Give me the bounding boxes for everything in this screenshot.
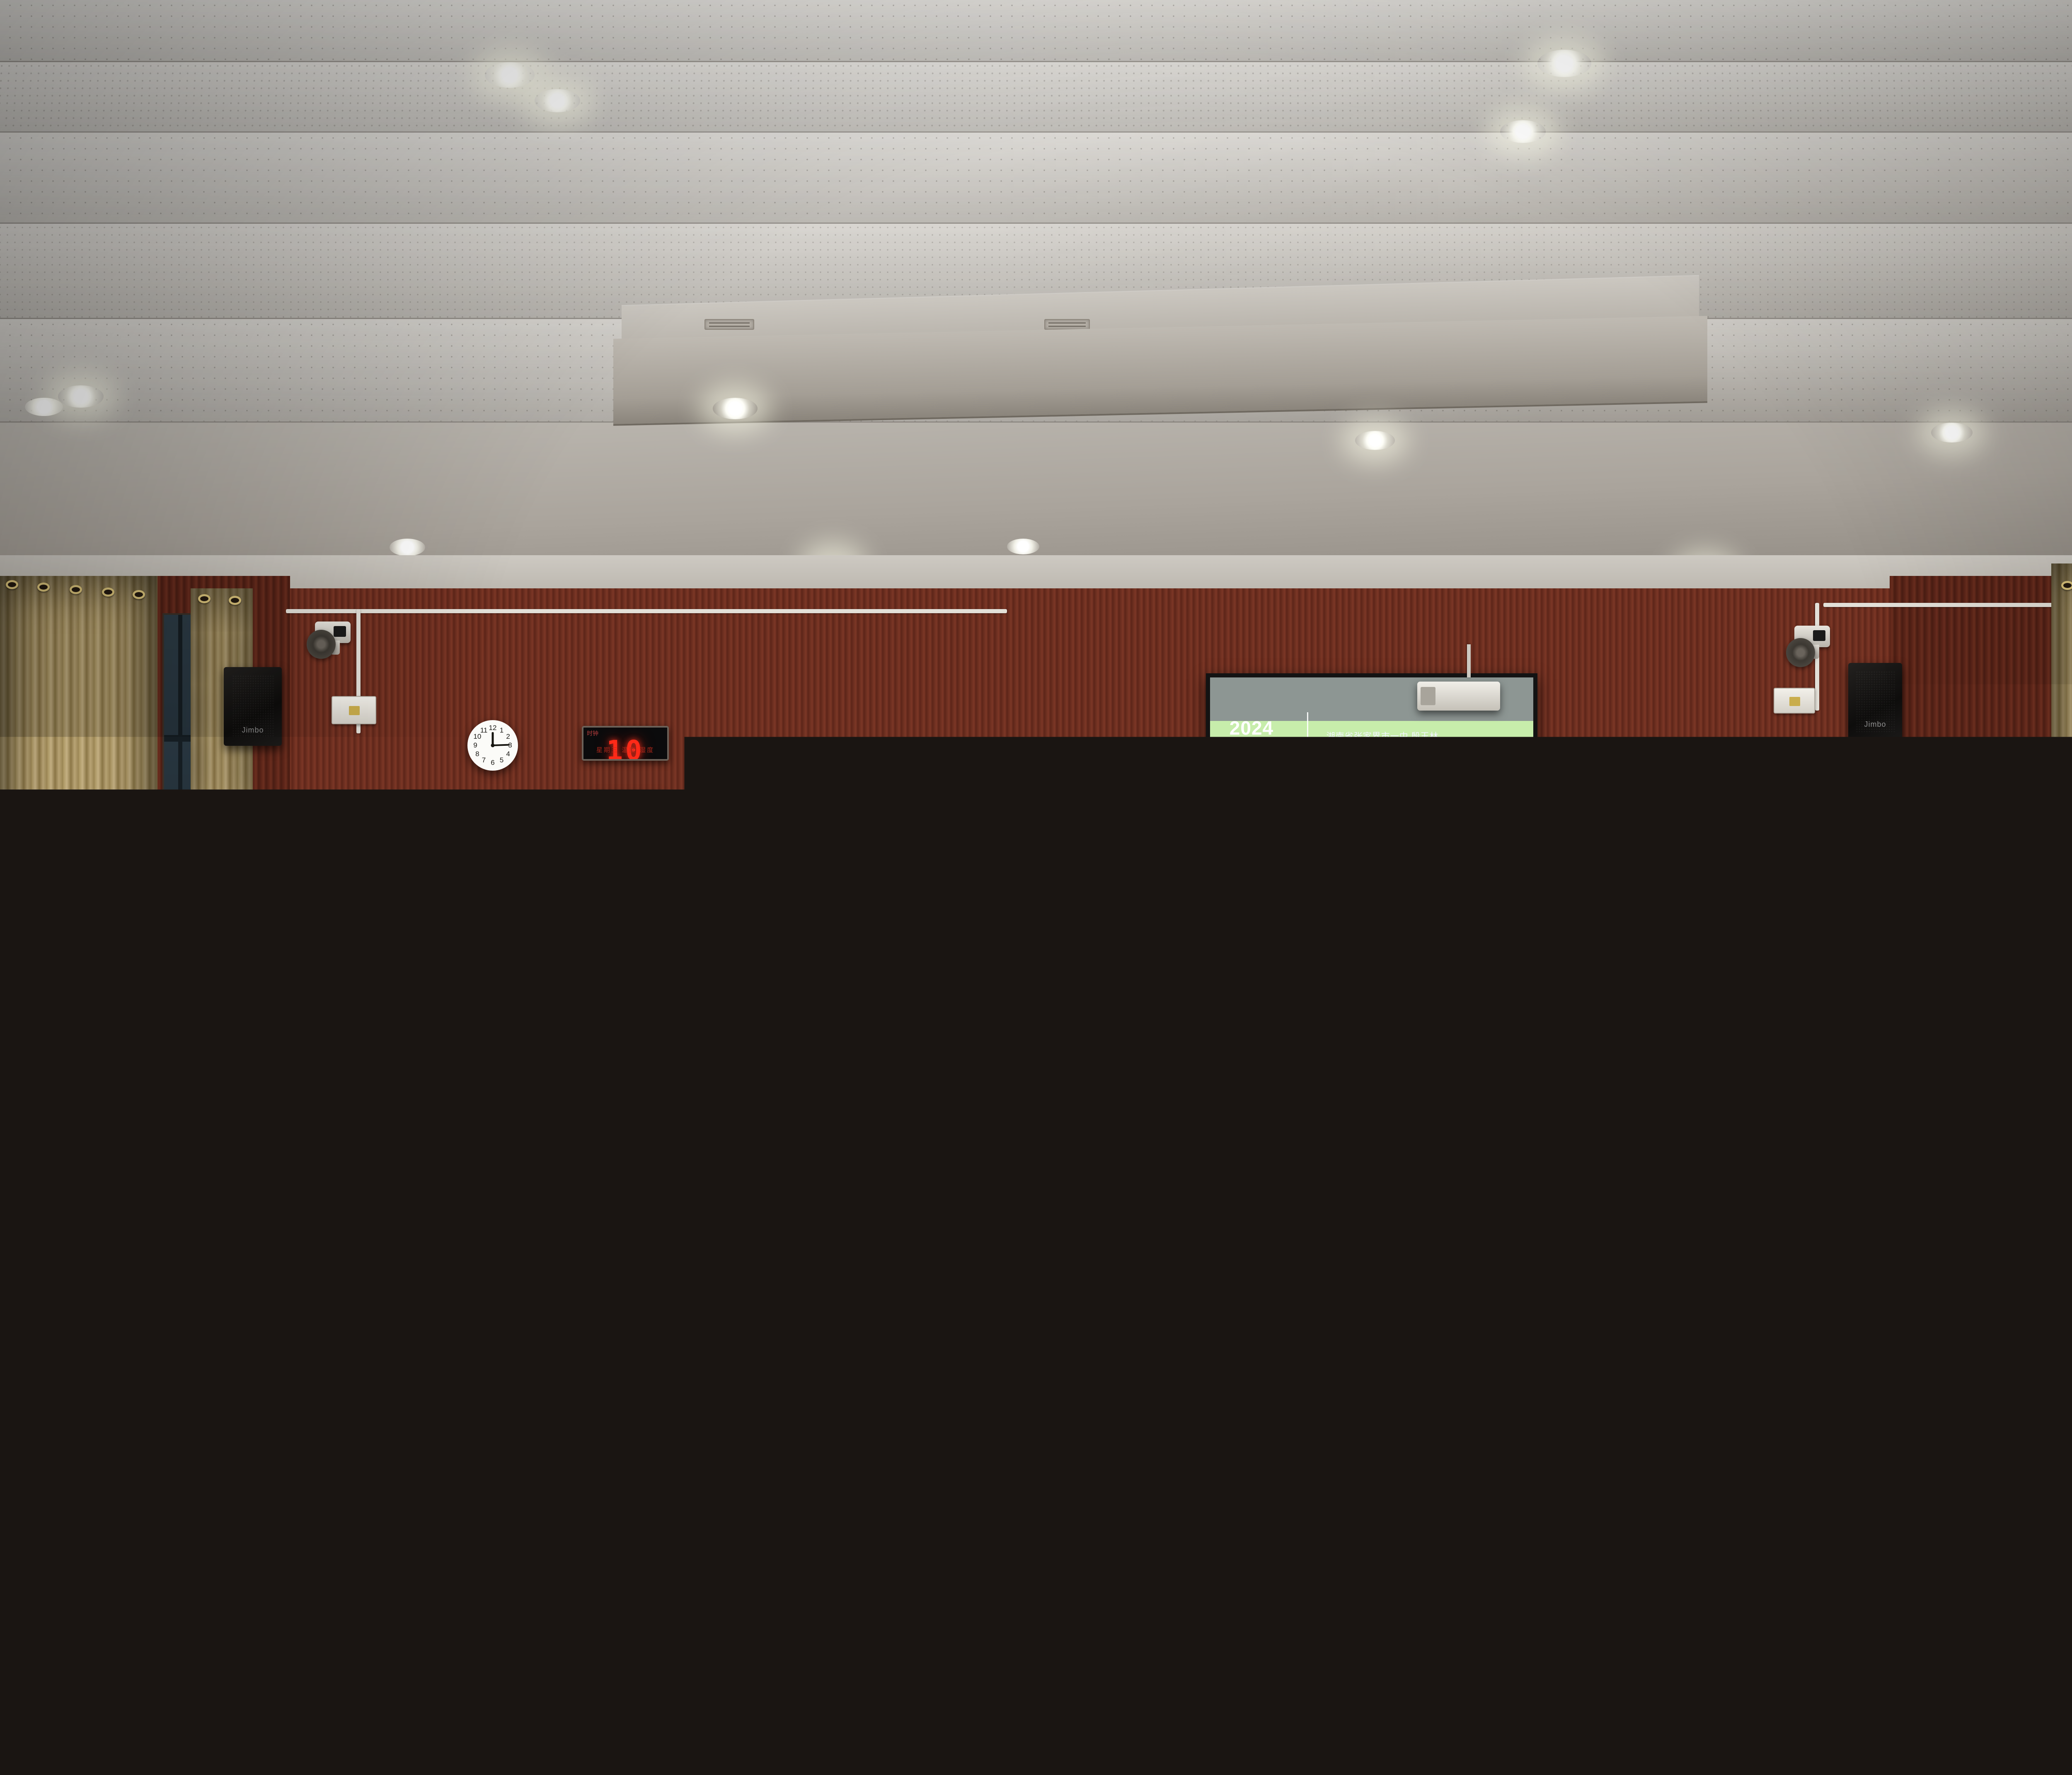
downlight-8 bbox=[1931, 423, 1973, 443]
poster-values-line1: 富强 民主 文明 和谐 bbox=[598, 834, 660, 858]
seat-r2-3[interactable] bbox=[182, 1123, 249, 1181]
downlight-1 bbox=[485, 62, 535, 88]
audience-head-n9 bbox=[1604, 1135, 1657, 1193]
speaker-glasses-icon bbox=[798, 899, 822, 904]
audience-head-n10 bbox=[1832, 1135, 1886, 1194]
ceiling bbox=[0, 0, 2072, 580]
analog-wall-clock: 12 1 2 3 4 5 6 7 8 9 10 11 bbox=[467, 720, 518, 771]
clock-center-pin bbox=[491, 744, 495, 747]
speaker-brand-right: Jimbo bbox=[1848, 720, 1902, 729]
seat-r2-6[interactable] bbox=[1024, 1119, 1089, 1176]
conduit-horizontal-left bbox=[286, 609, 1007, 613]
student-phone-1[interactable] bbox=[686, 1213, 714, 1255]
ceiling-projector bbox=[1417, 682, 1500, 711]
ceiling-panel-row-2 bbox=[0, 62, 2072, 133]
curtain-right bbox=[2051, 563, 2072, 1127]
downlight-2 bbox=[535, 89, 580, 112]
handout-paper-3 bbox=[1607, 1316, 1692, 1371]
lecture-hall-photo: Jimbo Jimbo 12 1 2 3 4 5 6 7 8 9 10 11 时… bbox=[0, 0, 2072, 1775]
water-bottle-4 bbox=[1003, 1066, 1015, 1103]
seat-r2-2[interactable] bbox=[104, 1121, 170, 1179]
host-glasses-icon bbox=[948, 976, 971, 982]
wall-speaker-left: Jimbo bbox=[224, 667, 282, 746]
seat-r2-10[interactable] bbox=[1774, 1116, 1841, 1175]
handout-paper-1 bbox=[475, 1195, 552, 1245]
audience-head-m7 bbox=[1401, 1077, 1445, 1126]
near-audience-hoodie-black bbox=[265, 1239, 439, 1429]
seat-r2-9[interactable] bbox=[1695, 1115, 1762, 1173]
audience-head-n4 bbox=[920, 1160, 970, 1215]
audience-head-m2 bbox=[593, 1115, 636, 1163]
slide-title: 悦纳挑战 静待花开 bbox=[1226, 842, 1419, 873]
led-digital-clock: 时钟 10 30 9 星期三 温度 湿度 bbox=[582, 726, 669, 761]
podium-top-surface bbox=[653, 1002, 894, 1032]
ceiling-vent-center bbox=[1044, 319, 1090, 330]
curtain-left-outer bbox=[0, 576, 157, 1110]
red-handout-paper bbox=[1138, 1282, 1212, 1328]
downlight-11 bbox=[390, 539, 425, 556]
poster-values: 富强 民主 文明 和谐 自由 平等 公正 法治 爱国 敬业 诚信 友善 bbox=[598, 834, 660, 887]
audience-body-n8 bbox=[1475, 1197, 1563, 1280]
water-bottle-2 bbox=[923, 1059, 936, 1100]
downlight-6 bbox=[713, 398, 758, 419]
university-logo-icon bbox=[1601, 880, 1623, 901]
audience-body-n5 bbox=[1119, 1193, 1206, 1276]
seat-far-6[interactable] bbox=[1459, 1082, 1514, 1129]
electrical-box-right bbox=[1774, 688, 1815, 713]
electrical-box-left bbox=[332, 696, 376, 724]
near-audience-hair-center-4 bbox=[1268, 1243, 1455, 1570]
water-bottle-1 bbox=[908, 1061, 920, 1100]
wall-fan-right bbox=[1786, 638, 1815, 667]
poster-values-line2: 自由 平等 公正 法治 bbox=[598, 858, 660, 883]
poster-values-line3: 爱国 敬业 诚信 友善 bbox=[598, 883, 660, 887]
downlight-5 bbox=[58, 385, 104, 408]
downlight-4 bbox=[1500, 120, 1546, 143]
wall-fan-left bbox=[307, 630, 336, 659]
speaker-brand-left: Jimbo bbox=[224, 726, 282, 735]
downlight-3 bbox=[1537, 50, 1591, 77]
wall-banner-left-fragment: 了梦想 bbox=[1515, 882, 1587, 904]
audience-head-m4 bbox=[837, 1094, 880, 1143]
notebook-cover-text: Baby bbox=[1726, 1555, 1753, 1569]
ceiling-panel-row-1 bbox=[0, 0, 2072, 62]
audience-head-m12 bbox=[2014, 1081, 2062, 1134]
core-values-poster: 社会主义核心价值观 SHEHUI ZHUYI HEXIN JIAZHIGUAN … bbox=[593, 791, 664, 887]
audience-body-n2 bbox=[642, 1206, 727, 1284]
audience-head-n8 bbox=[1492, 1144, 1544, 1201]
led-clock-subline: 星期三 温度 湿度 bbox=[583, 745, 667, 754]
desk-water-bottle-2 bbox=[1881, 1235, 1897, 1284]
slide-divider bbox=[1307, 712, 1308, 808]
downlight-13 bbox=[25, 398, 63, 416]
seat-r3-7[interactable] bbox=[1952, 1175, 2028, 1243]
audience-head-m6 bbox=[1285, 1073, 1329, 1122]
water-bottle-3 bbox=[986, 1064, 999, 1102]
audience-head-n5 bbox=[1135, 1144, 1187, 1200]
audience-head-n3 bbox=[779, 1156, 829, 1211]
slide-highlight-band bbox=[1223, 756, 1410, 839]
banner-slogan: 恋上手机 碎了梦想 bbox=[1692, 882, 1788, 899]
whiteboard-tray bbox=[769, 974, 1481, 979]
audience-head-n1 bbox=[414, 1164, 466, 1221]
foreground-shadow bbox=[0, 1626, 2072, 1775]
slide-meta: 湖南省张家界市一中 殷玉林 bbox=[1326, 730, 1439, 742]
slide-year: 2024 bbox=[1230, 717, 1273, 739]
banner-organization: 吉首大学 bbox=[1629, 881, 1682, 900]
seat-r3-4[interactable] bbox=[978, 1179, 1053, 1245]
audience-head-n7 bbox=[1368, 1156, 1421, 1214]
desk-water-bottle-1 bbox=[908, 1193, 922, 1239]
banner-left-text: 了梦想 bbox=[1520, 885, 1555, 901]
audience-head-m1 bbox=[539, 1119, 583, 1168]
handout-paper-2 bbox=[1010, 1262, 1095, 1315]
audience-body-n9 bbox=[1587, 1189, 1677, 1274]
conduit-horizontal-right bbox=[1823, 603, 2072, 607]
audience-head-m8 bbox=[1533, 1071, 1576, 1119]
audience-head-m5 bbox=[928, 1102, 971, 1151]
wall-speaker-right: Jimbo bbox=[1848, 663, 1902, 740]
audience-body-n6 bbox=[1235, 1187, 1324, 1272]
wall-cabinet-shelves bbox=[1405, 928, 1765, 1065]
audience-head-n6 bbox=[1251, 1135, 1304, 1192]
audience-head-m9 bbox=[1653, 1069, 1699, 1120]
seat-far-5[interactable] bbox=[1160, 1086, 1214, 1133]
audience-head-m11 bbox=[1890, 1069, 1936, 1120]
projector-mount-rod bbox=[1467, 644, 1471, 677]
downlight-7 bbox=[1355, 431, 1395, 450]
ceiling-vent-left bbox=[704, 319, 754, 330]
downlight-14 bbox=[1007, 539, 1039, 554]
ceiling-panel-row-3 bbox=[0, 133, 2072, 224]
seat-r2-1[interactable] bbox=[25, 1119, 91, 1177]
audience-head-m3 bbox=[680, 1100, 721, 1146]
audience-head-m10 bbox=[1769, 1065, 1814, 1115]
audience-head-n2 bbox=[659, 1156, 709, 1212]
near-audience-hair-center-1 bbox=[671, 1260, 845, 1566]
